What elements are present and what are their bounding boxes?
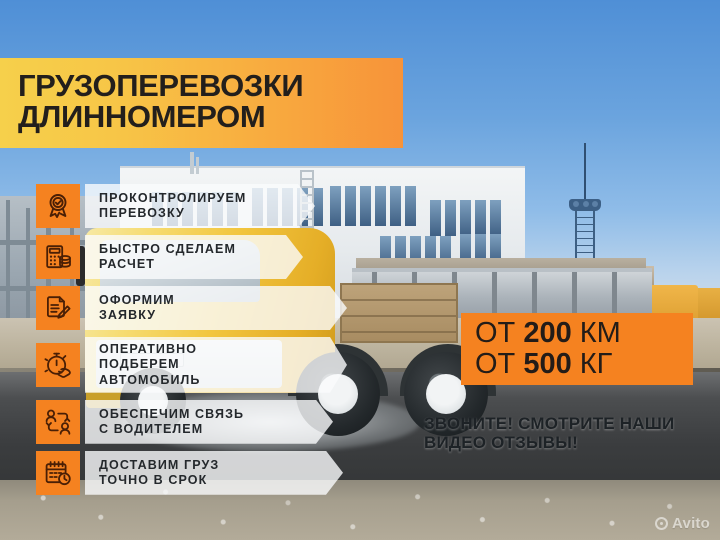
pipe	[6, 200, 10, 320]
document-pen-icon	[36, 286, 80, 330]
feature-row: ОПЕРАТИВНО ПОДБЕРЕМ АВТОМОБИЛЬ	[36, 337, 366, 393]
feature-row: ДОСТАВИМ ГРУЗ ТОЧНО В СРОК	[36, 451, 366, 495]
title-line-2: ДЛИННОМЕРОМ	[18, 102, 393, 133]
feature-row: ОФОРМИМ ЗАЯВКУ	[36, 286, 366, 330]
feature-text-line: ОБЕСПЕЧИМ СВЯЗЬ	[99, 407, 299, 422]
price-row-weight: ОТ 500 КГ	[475, 349, 693, 380]
roof-pipe	[196, 157, 199, 174]
roof-pipe	[190, 152, 194, 174]
stopwatch-hand-icon	[36, 343, 80, 387]
feature-text-line: С ВОДИТЕЛЕМ	[99, 422, 299, 437]
tower-lamp-icon	[573, 201, 579, 207]
antenna-tower-mast	[584, 143, 586, 205]
avito-watermark: Avito	[655, 515, 710, 532]
feature-label: ОБЕСПЕЧИМ СВЯЗЬ С ВОДИТЕЛЕМ	[85, 400, 333, 444]
advertisement-poster: ГРУЗОПЕРЕВОЗКИ ДЛИННОМЕРОМ ПРОКОНТРОЛИРУ…	[0, 0, 720, 540]
feature-label: ОПЕРАТИВНО ПОДБЕРЕМ АВТОМОБИЛЬ	[85, 337, 347, 393]
feature-label: ДОСТАВИМ ГРУЗ ТОЧНО В СРОК	[85, 451, 343, 495]
feature-text-line: ПОДБЕРЕМ	[99, 357, 313, 372]
feature-text-line: ПЕРЕВОЗКУ	[99, 206, 281, 221]
feature-text-line: ЗАЯВКУ	[99, 308, 313, 323]
price-value: 200	[523, 317, 571, 349]
price-unit: КМ	[572, 317, 621, 349]
feature-text-line: АВТОМОБИЛЬ	[99, 373, 313, 388]
window-band	[430, 200, 501, 236]
feature-label: ПРОКОНТРОЛИРУЕМ ПЕРЕВОЗКУ	[85, 184, 315, 228]
price-badge: ОТ 200 КМ ОТ 500 КГ	[461, 313, 693, 385]
price-prefix: ОТ	[475, 348, 523, 380]
feature-text-line: ОПЕРАТИВНО	[99, 342, 313, 357]
feature-row: ОБЕСПЕЧИМ СВЯЗЬ С ВОДИТЕЛЕМ	[36, 400, 366, 444]
price-prefix: ОТ	[475, 317, 523, 349]
avito-watermark-label: Avito	[672, 515, 710, 532]
truck-wheel-hub	[426, 374, 466, 414]
feature-text-line: ТОЧНО В СРОК	[99, 473, 309, 488]
award-medal-check-icon	[36, 184, 80, 228]
avito-logo-icon	[655, 517, 668, 530]
price-value: 500	[523, 348, 571, 380]
tower-lamp-icon	[583, 201, 589, 207]
cta-line-1: ЗВОНИТЕ! СМОТРИТЕ НАШИ	[424, 414, 714, 433]
price-unit: КГ	[572, 348, 613, 380]
feature-row: БЫСТРО СДЕЛАЕМ РАСЧЕТ	[36, 235, 366, 279]
feature-text-line: ПРОКОНТРОЛИРУЕМ	[99, 191, 281, 206]
feature-text-line: ДОСТАВИМ ГРУЗ	[99, 458, 309, 473]
feature-text-line: ОФОРМИМ	[99, 293, 313, 308]
feature-label: ОФОРМИМ ЗАЯВКУ	[85, 286, 347, 330]
title-banner: ГРУЗОПЕРЕВОЗКИ ДЛИННОМЕРОМ	[0, 58, 403, 148]
cta-line-2: ВИДЕО ОТЗЫВЫ!	[424, 433, 714, 452]
price-row-distance: ОТ 200 КМ	[475, 318, 693, 349]
call-to-action: ЗВОНИТЕ! СМОТРИТЕ НАШИ ВИДЕО ОТЗЫВЫ!	[424, 414, 714, 452]
feature-row: ПРОКОНТРОЛИРУЕМ ПЕРЕВОЗКУ	[36, 184, 366, 228]
feature-text-line: БЫСТРО СДЕЛАЕМ	[99, 242, 269, 257]
pipe	[26, 208, 30, 320]
calculator-coins-icon	[36, 235, 80, 279]
tower-lamp-icon	[592, 201, 598, 207]
feature-list: ПРОКОНТРОЛИРУЕМ ПЕРЕВОЗКУ	[36, 184, 366, 502]
title-line-1: ГРУЗОПЕРЕВОЗКИ	[18, 71, 393, 102]
calendar-clock-icon	[36, 451, 80, 495]
feature-text-line: РАСЧЕТ	[99, 257, 269, 272]
people-exchange-icon	[36, 400, 80, 444]
feature-label: БЫСТРО СДЕЛАЕМ РАСЧЕТ	[85, 235, 303, 279]
